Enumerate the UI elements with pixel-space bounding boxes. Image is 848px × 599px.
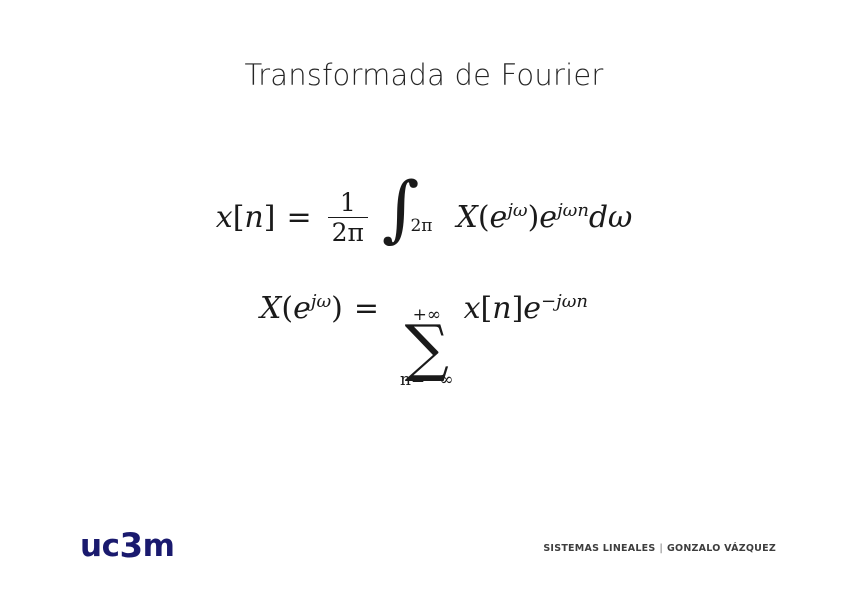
lhs-open-bracket: [ (233, 200, 245, 235)
uc3m-logo: uc3m (80, 528, 174, 562)
integrand-X: X (456, 200, 477, 235)
term-exponent: −jωn (541, 291, 588, 312)
fraction-denominator: 2π (328, 218, 368, 245)
lhs-index: n (244, 200, 263, 235)
equals-sign: = (286, 200, 311, 235)
summation-operator: +∞∑n=−∞ (400, 306, 454, 389)
equation-inverse-transform: x[n]=12π∫2πX(ejω)ejωndω (0, 150, 848, 270)
lhs-X: X (260, 291, 281, 326)
factor-exponent: jωn (557, 200, 589, 221)
integrand-close-paren: ) (528, 200, 540, 235)
integrand-base-e: e (490, 200, 508, 235)
lhs-variable: x (216, 200, 233, 235)
term-variable: x (464, 291, 481, 326)
integral-operator: ∫2π (382, 180, 442, 236)
logo-suffix: m (143, 528, 175, 564)
sigma-icon: ∑ (405, 323, 449, 374)
lhs-close-paren: ) (331, 291, 343, 326)
lhs-exponent: jω (311, 291, 331, 312)
summation-lower-limit: n=−∞ (400, 371, 454, 390)
footer-separator: | (656, 543, 667, 554)
footer-course-name: SISTEMAS LINEALES (543, 543, 655, 554)
fraction-one-over-two-pi: 12π (328, 190, 368, 246)
lhs-close-bracket: ] (264, 200, 276, 235)
equation-inverse-content: x[n]=12π∫2πX(ejω)ejωndω (216, 174, 632, 247)
integrand-open-paren: ( (478, 200, 490, 235)
factor-base-e: e (539, 200, 557, 235)
equals-sign: = (354, 291, 379, 326)
lhs-open-paren: ( (281, 291, 293, 326)
logo-prefix: uc (80, 528, 119, 564)
term-open-bracket: [ (481, 291, 493, 326)
term-close-bracket: ] (512, 291, 524, 326)
integral-lower-limit: 2π (410, 218, 432, 235)
equation-forward-content: X(ejω)=+∞∑n=−∞x[n]e−jωn (260, 294, 588, 387)
equation-forward-transform: X(ejω)=+∞∑n=−∞x[n]e−jωn (0, 276, 848, 406)
term-index: n (492, 291, 511, 326)
logo-digit: 3 (119, 526, 142, 566)
footer-credit: SISTEMAS LINEALES|GONZALO VÁZQUEZ (543, 543, 776, 554)
footer-author-name: GONZALO VÁZQUEZ (667, 543, 776, 554)
fraction-numerator: 1 (334, 190, 362, 217)
page-title: Transformada de Fourier (0, 58, 848, 92)
lhs-base-e: e (293, 291, 311, 326)
slide-canvas: Transformada de Fourier x[n]=12π∫2πX(ejω… (0, 0, 848, 599)
term-base-e: e (523, 291, 541, 326)
integrand-exponent: jω (507, 200, 527, 221)
equation-block: x[n]=12π∫2πX(ejω)ejωndω X(ejω)=+∞∑n=−∞x[… (0, 150, 848, 406)
differential-d-omega: dω (589, 200, 632, 235)
